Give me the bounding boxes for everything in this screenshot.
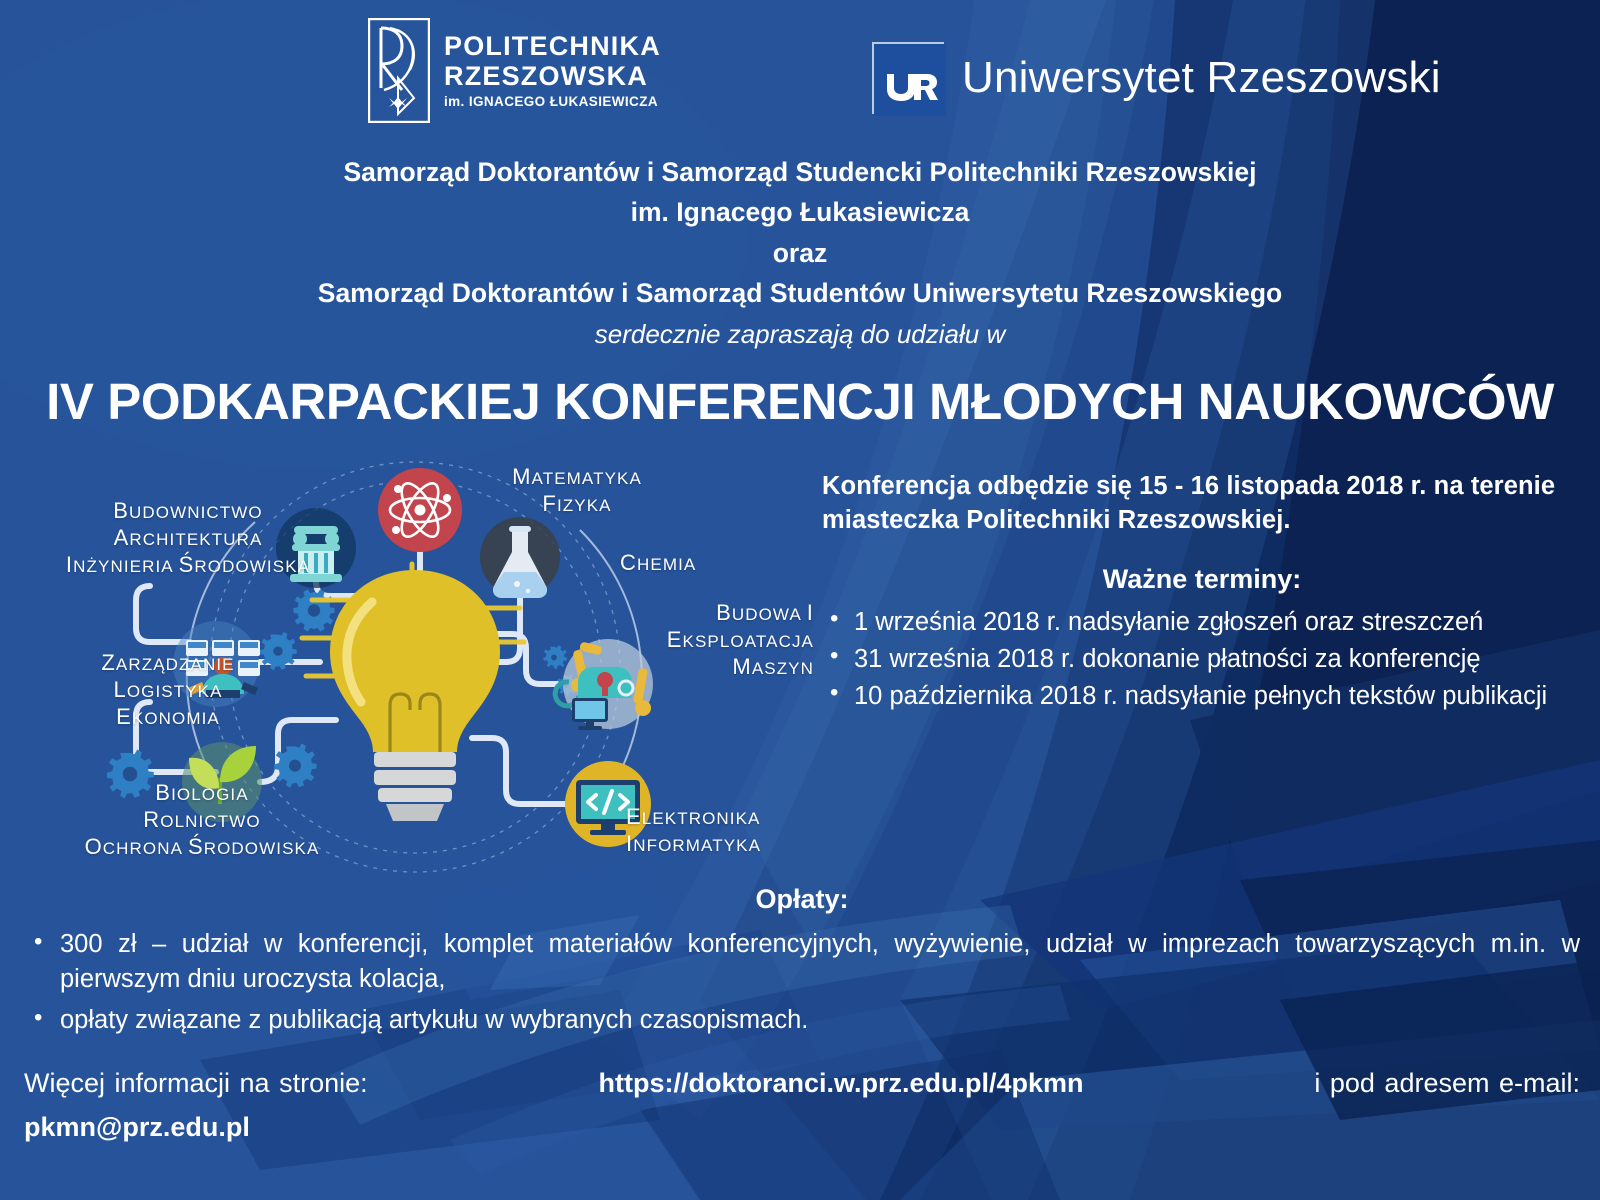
label-line: INŻYNIERIA ŚRODOWISKA	[58, 552, 318, 579]
page-title: IV PODKARPACKIEJ KONFERENCJI MŁODYCH NAU…	[0, 372, 1600, 431]
conference-website-link[interactable]: https://doktoranci.w.prz.edu.pl/4pkmn	[598, 1064, 1083, 1102]
label-line: OCHRONA ŚRODOWISKA	[76, 834, 328, 861]
organizers-line-2: im. Ignacego Łukasiewicza	[0, 192, 1600, 232]
list-item: opłaty związane z publikacją artykułu w …	[24, 1003, 1580, 1038]
contact-section: Więcej informacji na stronie: https://do…	[24, 1064, 1580, 1147]
contact-middle: i pod adresem e-mail:	[1314, 1064, 1580, 1102]
organizers-line-1: Samorząd Doktorantów i Samorząd Studenck…	[0, 152, 1600, 192]
uniwersytet-rzeszowski-logo: Uniwersytet Rzeszowski	[872, 42, 1441, 114]
label-line: EKSPLOATACJA	[624, 627, 814, 654]
label-line: ROLNICTWO	[76, 807, 328, 834]
discipline-label-elektronika: ELEKTRONIKA INFORMATYKA	[626, 804, 826, 858]
label-line: LOGISTYKA	[68, 677, 268, 704]
prz-logo-line1: POLITECHNIKA	[444, 33, 661, 60]
important-dates-heading: Ważne terminy:	[822, 564, 1582, 595]
label-line: BUDOWNICTWO	[58, 498, 318, 525]
prz-logo-line3: im. IGNACEGO ŁUKASIEWICZA	[444, 95, 661, 109]
important-dates-list: 1 września 2018 r. nadsyłanie zgłoszeń o…	[822, 605, 1582, 713]
ur-emblem-icon	[872, 42, 944, 114]
label-line: INFORMATYKA	[626, 831, 826, 858]
label-line: BIOLOGIA	[76, 780, 328, 807]
fees-heading: Opłaty:	[24, 884, 1580, 915]
list-item: 10 października 2018 r. nadsyłanie pełny…	[822, 679, 1582, 713]
atom-icon	[378, 468, 462, 552]
organizers-header: Samorząd Doktorantów i Samorząd Studenck…	[0, 152, 1600, 354]
contact-prefix: Więcej informacji na stronie:	[24, 1064, 368, 1102]
discipline-label-budownictwo: BUDOWNICTWO ARCHITEKTURA INŻYNIERIA ŚROD…	[58, 498, 318, 578]
label-line: ZARZĄDZANIE	[68, 650, 268, 677]
label-line: BUDOWA I	[624, 600, 814, 627]
label-line: MATEMATYKA	[472, 464, 682, 491]
list-item: 31 września 2018 r. dokonanie płatności …	[822, 642, 1582, 676]
label-line: EKONOMIA	[68, 704, 268, 731]
discipline-label-zarzadzanie: ZARZĄDZANIE LOGISTYKA EKONOMIA	[68, 650, 268, 730]
prz-emblem-icon	[368, 18, 430, 123]
fees-section: Opłaty: 300 zł – udział w konferencji, k…	[24, 884, 1580, 1045]
label-line: FIZYKA	[472, 491, 682, 518]
politechnika-rzeszowska-logo: POLITECHNIKA RZESZOWSKA im. IGNACEGO ŁUK…	[368, 18, 661, 123]
label-line: MASZYN	[624, 654, 814, 681]
ur-logo-name: Uniwersytet Rzeszowski	[962, 53, 1441, 103]
conference-date-location: Konferencja odbędzie się 15 - 16 listopa…	[822, 470, 1582, 538]
conference-info-panel: Konferencja odbędzie się 15 - 16 listopa…	[822, 470, 1582, 716]
organizers-line-3: oraz	[0, 233, 1600, 273]
label-line: ELEKTRONIKA	[626, 804, 826, 831]
flask-icon	[480, 517, 560, 598]
lightbulb-icon	[302, 564, 524, 821]
discipline-label-maszyny: BUDOWA I EKSPLOATACJA MASZYN	[624, 600, 814, 680]
list-item: 300 zł – udział w konferencji, komplet m…	[24, 927, 1580, 997]
label-line: CHEMIA	[620, 550, 800, 577]
label-line: ARCHITEKTURA	[58, 525, 318, 552]
prz-logo-line2: RZESZOWSKA	[444, 63, 661, 90]
invitation-line: serdecznie zapraszają do udziału w	[0, 315, 1600, 354]
disciplines-infographic: BUDOWNICTWO ARCHITEKTURA INŻYNIERIA ŚROD…	[20, 452, 810, 882]
organizers-line-4: Samorząd Doktorantów i Samorząd Studentó…	[0, 273, 1600, 313]
list-item: 1 września 2018 r. nadsyłanie zgłoszeń o…	[822, 605, 1582, 639]
logo-row: POLITECHNIKA RZESZOWSKA im. IGNACEGO ŁUK…	[0, 0, 1600, 148]
conference-email-link[interactable]: pkmn@prz.edu.pl	[24, 1108, 1580, 1146]
fees-list: 300 zł – udział w konferencji, komplet m…	[24, 927, 1580, 1039]
discipline-label-chemia: CHEMIA	[620, 550, 800, 577]
discipline-label-biologia: BIOLOGIA ROLNICTWO OCHRONA ŚRODOWISKA	[76, 780, 328, 860]
discipline-label-matematyka: MATEMATYKA FIZYKA	[472, 464, 682, 518]
